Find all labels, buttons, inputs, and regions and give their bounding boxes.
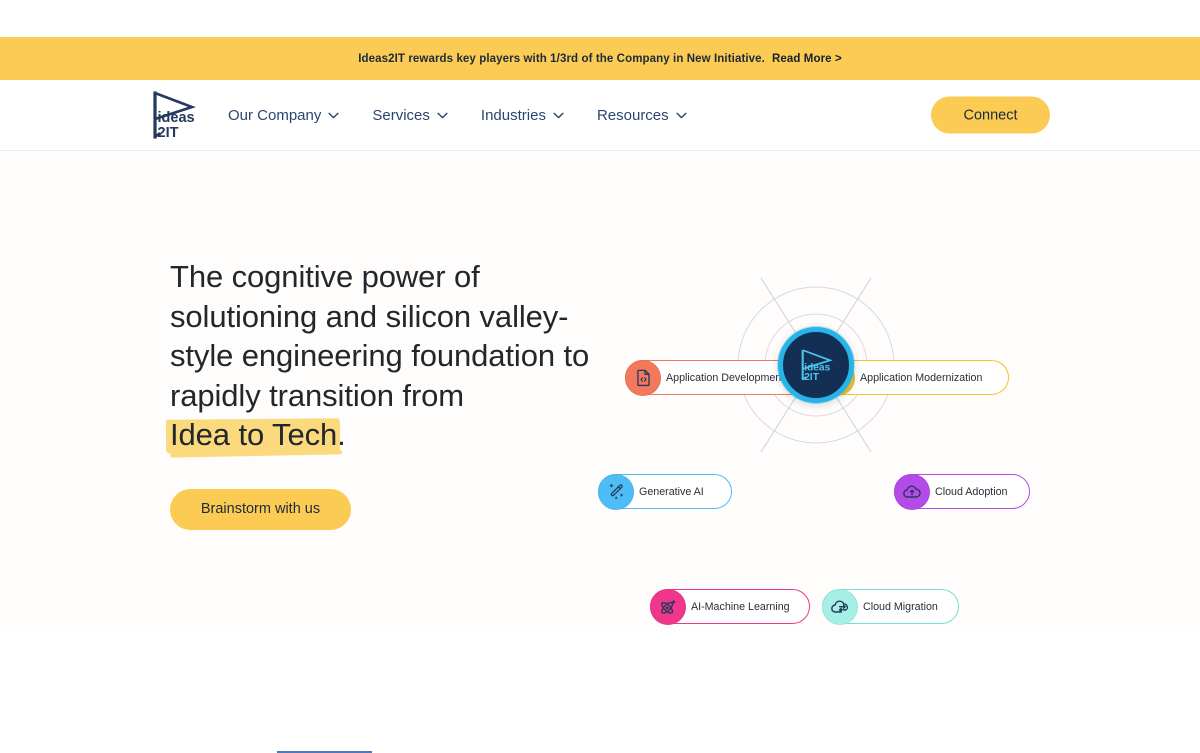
chevron-down-icon: [437, 112, 448, 119]
chevron-down-icon: [676, 112, 687, 119]
node-cloud-adoption[interactable]: Cloud Adoption: [894, 474, 1030, 509]
node-label: Application Development: [666, 372, 784, 384]
announcement-banner: Ideas2IT rewards key players with 1/3rd …: [0, 37, 1200, 80]
cloud-upload-icon: [894, 474, 930, 510]
node-label: Cloud Adoption: [935, 486, 1008, 498]
read-more-link[interactable]: Read More >: [772, 53, 842, 65]
cloud-migrate-icon: [822, 589, 858, 625]
svg-text:2IT: 2IT: [804, 372, 819, 383]
brainstorm-with-us-button[interactable]: Brainstorm with us: [170, 489, 351, 530]
diagram-hub: ideas 2IT: [778, 327, 854, 403]
hero-copy: The cognitive power of solutioning and s…: [170, 257, 600, 530]
nav-item-label: Services: [372, 107, 430, 124]
brand-logo[interactable]: ideas 2IT: [150, 89, 198, 141]
hub-ideas2it-logo-icon: ideas 2IT: [796, 347, 836, 383]
nav-item-our-company[interactable]: Our Company: [228, 107, 372, 124]
services-hub-diagram: ideas 2IT Application Development: [595, 216, 1045, 516]
main-navbar: ideas 2IT Our Company Services Industrie…: [0, 80, 1200, 150]
top-spacer: [0, 0, 1200, 37]
nav-item-resources[interactable]: Resources: [597, 107, 720, 124]
nav-item-label: Resources: [597, 107, 669, 124]
node-label: AI-Machine Learning: [691, 601, 790, 613]
node-label: Application Modernization: [860, 372, 982, 384]
chevron-down-icon: [328, 112, 339, 119]
node-generative-ai[interactable]: Generative AI: [598, 474, 732, 509]
document-code-icon: [625, 360, 661, 396]
svg-text:2IT: 2IT: [158, 125, 179, 141]
svg-text:ideas: ideas: [158, 110, 195, 126]
announcement-text: Ideas2IT rewards key players with 1/3rd …: [358, 53, 765, 65]
node-ai-machine-learning[interactable]: AI-Machine Learning: [650, 589, 810, 624]
node-label: Cloud Migration: [863, 601, 938, 613]
headline-highlight-wrap: Idea to Tech: [170, 417, 337, 452]
nav-item-services[interactable]: Services: [372, 107, 481, 124]
nav-links: Our Company Services Industries Resource…: [228, 107, 720, 124]
atom-sparkle-icon: [650, 589, 686, 625]
chevron-down-icon: [553, 112, 564, 119]
ideas2it-logo-icon: ideas 2IT: [150, 89, 198, 141]
nav-item-industries[interactable]: Industries: [481, 107, 597, 124]
hero-headline: The cognitive power of solutioning and s…: [170, 257, 600, 455]
connect-button[interactable]: Connect: [931, 97, 1050, 134]
node-label: Generative AI: [639, 486, 704, 498]
node-cloud-migration[interactable]: Cloud Migration: [822, 589, 959, 624]
hero-section: The cognitive power of solutioning and s…: [0, 150, 1200, 631]
headline-highlight-text: Idea to Tech: [170, 417, 337, 452]
nav-item-label: Our Company: [228, 107, 321, 124]
headline-text-lead: The cognitive power of solutioning and s…: [170, 259, 589, 413]
nav-item-label: Industries: [481, 107, 546, 124]
magic-wand-icon: [598, 474, 634, 510]
